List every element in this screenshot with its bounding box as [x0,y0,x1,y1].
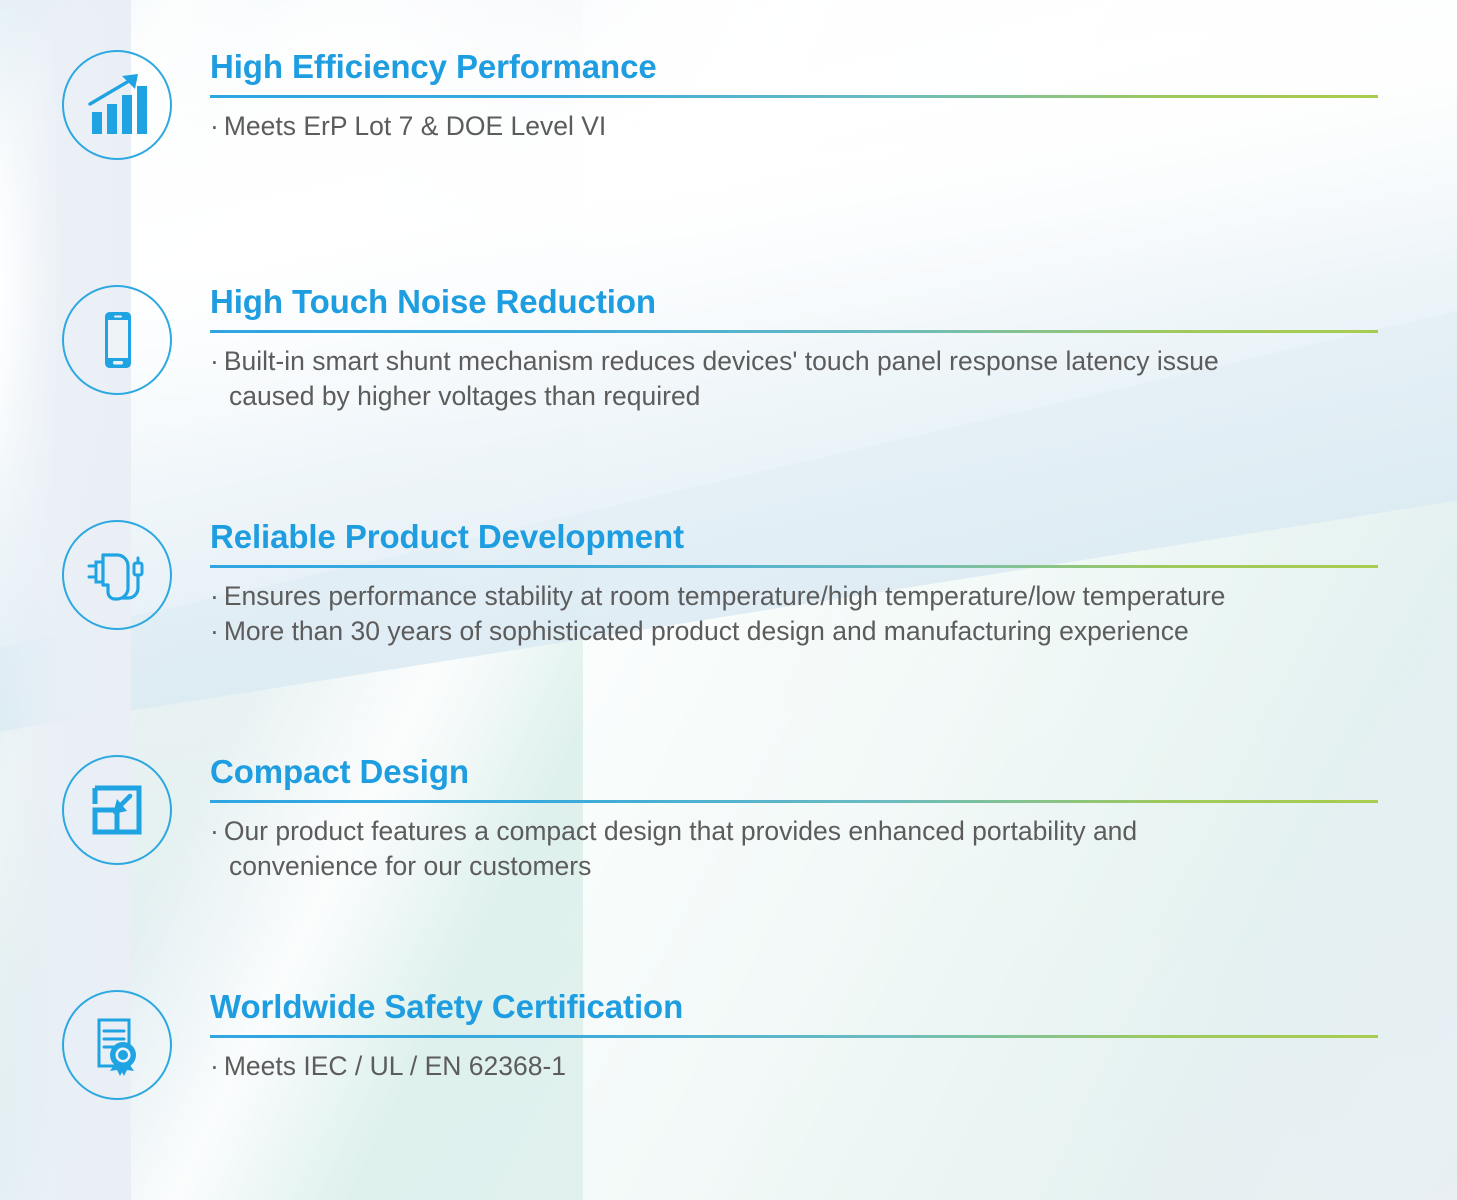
bullet-line: ·Our product features a compact design t… [210,814,1379,849]
feature-item-high-touch-noise-reduction: High Touch Noise Reduction ·Built-in sma… [0,285,1457,414]
feature-title: High Touch Noise Reduction [210,285,1379,319]
bullet-line: ·Built-in smart shunt mechanism reduces … [210,344,1379,379]
bullet-text: Ensures performance stability at room te… [224,581,1226,611]
icon-circle [62,50,172,160]
bullet-marker: · [210,346,219,376]
bar-chart-growth-icon [82,70,152,140]
bullet-text: convenience for our customers [229,851,591,881]
feature-bullets: ·Ensures performance stability at room t… [210,579,1379,649]
feature-title: Compact Design [210,755,1379,789]
bullet-marker: · [210,111,219,141]
feature-divider [210,95,1378,98]
bullet-marker: · [210,616,219,646]
bullet-text: Meets IEC / UL / EN 62368-1 [224,1051,566,1081]
power-adapter-icon [80,538,154,612]
feature-item-worldwide-safety-certification: Worldwide Safety Certification ·Meets IE… [0,990,1457,1100]
bullet-line: ·Ensures performance stability at room t… [210,579,1379,614]
icon-circle [62,990,172,1100]
feature-icon-wrap [58,520,176,630]
feature-body: Compact Design ·Our product features a c… [210,755,1457,884]
bullet-text: Our product features a compact design th… [224,816,1137,846]
bullet-marker: · [210,816,219,846]
feature-title: Reliable Product Development [210,520,1379,554]
feature-divider [210,330,1378,333]
feature-divider [210,1035,1378,1038]
feature-body: High Touch Noise Reduction ·Built-in sma… [210,285,1457,414]
feature-bullets: ·Meets ErP Lot 7 & DOE Level VI [210,109,1379,144]
bullet-line: ·Meets ErP Lot 7 & DOE Level VI [210,109,1379,144]
feature-body: High Efficiency Performance ·Meets ErP L… [210,50,1457,144]
icon-circle [62,520,172,630]
bullet-text: More than 30 years of sophisticated prod… [224,616,1189,646]
feature-icon-wrap [58,990,176,1100]
feature-bullets: ·Built-in smart shunt mechanism reduces … [210,344,1379,414]
feature-divider [210,565,1378,568]
feature-item-reliable-product-development: Reliable Product Development ·Ensures pe… [0,520,1457,649]
icon-circle [62,755,172,865]
bullet-text: Meets ErP Lot 7 & DOE Level VI [224,111,606,141]
feature-divider [210,800,1378,803]
certificate-seal-icon [82,1010,152,1080]
bullet-text: caused by higher voltages than required [229,381,700,411]
feature-bullets: ·Our product features a compact design t… [210,814,1379,884]
feature-title: High Efficiency Performance [210,50,1379,84]
feature-icon-wrap [58,755,176,865]
feature-body: Reliable Product Development ·Ensures pe… [210,520,1457,649]
feature-item-high-efficiency-performance: High Efficiency Performance ·Meets ErP L… [0,50,1457,160]
feature-icon-wrap [58,50,176,160]
feature-item-compact-design: Compact Design ·Our product features a c… [0,755,1457,884]
bullet-text: Built-in smart shunt mechanism reduces d… [224,346,1219,376]
icon-circle [62,285,172,395]
smartphone-icon [82,305,152,375]
feature-icon-wrap [58,285,176,395]
bullet-line-continuation: caused by higher voltages than required [210,379,1379,414]
resize-compact-icon [82,775,152,845]
bullet-line: ·Meets IEC / UL / EN 62368-1 [210,1049,1379,1084]
feature-title: Worldwide Safety Certification [210,990,1379,1024]
bullet-line: ·More than 30 years of sophisticated pro… [210,614,1379,649]
bullet-line-continuation: convenience for our customers [210,849,1379,884]
bullet-marker: · [210,1051,219,1081]
feature-body: Worldwide Safety Certification ·Meets IE… [210,990,1457,1084]
feature-bullets: ·Meets IEC / UL / EN 62368-1 [210,1049,1379,1084]
bullet-marker: · [210,581,219,611]
feature-list: High Efficiency Performance ·Meets ErP L… [0,0,1457,1200]
